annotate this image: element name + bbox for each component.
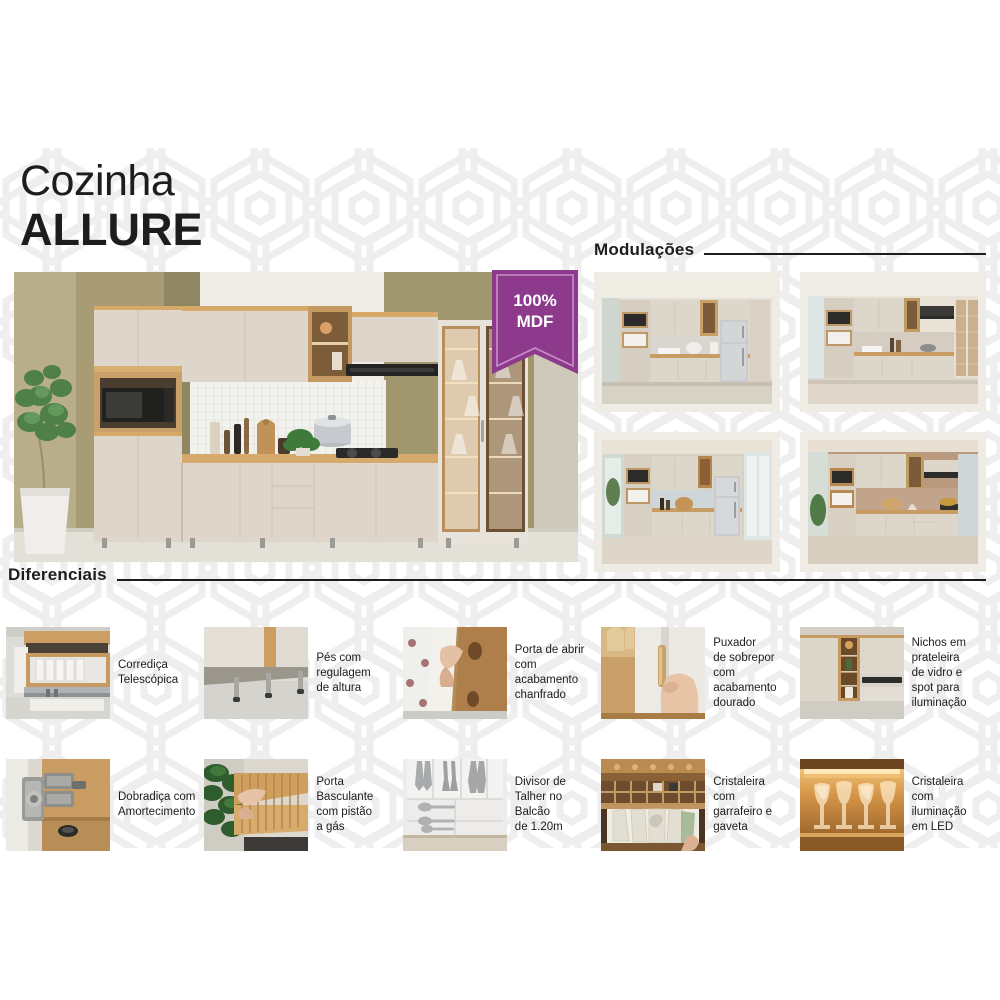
- modulation-2: [800, 272, 986, 412]
- differential-pes-regulagem-altura: Pés com regulagem de altura: [204, 612, 398, 734]
- section-title-modulacoes: Modulações: [594, 240, 694, 260]
- product-sheet: Cozinha ALLURE: [0, 0, 1000, 1000]
- title-line-cozinha: Cozinha: [20, 160, 202, 203]
- page-title: Cozinha ALLURE: [20, 160, 202, 252]
- differential-cristaleira-garrafeiro: Cristaleira com garrafeiro e gaveta: [601, 744, 795, 866]
- modulation-3: [594, 432, 780, 572]
- differential-corredica-telescopica: Corrediça Telescópica: [6, 612, 200, 734]
- dobradica-amortecimento-thumb: [6, 759, 110, 851]
- differential-divisor-talher: Divisor de Talher no Balcão de 1.20m: [403, 744, 597, 866]
- modulation-4: [800, 432, 986, 572]
- differential-label: Porta Basculante com pistão a gás: [316, 775, 373, 835]
- section-title-diferenciais: Diferenciais: [8, 565, 107, 585]
- differential-puxador-sobrepor-dourado: Puxador de sobrepor com acabamento doura…: [601, 612, 795, 734]
- title-line-allure: ALLURE: [20, 207, 202, 252]
- differential-porta-basculante-pistao: Porta Basculante com pistão a gás: [204, 744, 398, 866]
- puxador-sobrepor-dourado-thumb: [601, 627, 705, 719]
- section-header-modulacoes: Modulações: [594, 240, 986, 260]
- mdf-badge: 100% MDF: [492, 270, 578, 380]
- pes-regulagem-altura-thumb: [204, 627, 308, 719]
- modulations-grid: [594, 272, 986, 574]
- differential-porta-abrir-chanfrado: Porta de abrir com acabamento chanfrado: [403, 612, 597, 734]
- differential-label: Nichos em prateleira de vidro e spot par…: [912, 636, 967, 711]
- differential-label: Dobradiça com Amortecimento: [118, 790, 195, 820]
- differential-label: Divisor de Talher no Balcão de 1.20m: [515, 775, 566, 835]
- differential-dobradica-amortecimento: Dobradiça com Amortecimento: [6, 744, 200, 866]
- differential-nichos-vidro-spot: Nichos em prateleira de vidro e spot par…: [800, 612, 994, 734]
- differential-cristaleira-led: Cristaleira com iluminação em LED: [800, 744, 994, 866]
- differential-label: Porta de abrir com acabamento chanfrado: [515, 643, 585, 703]
- corredica-telescopica-thumb: [6, 627, 110, 719]
- nichos-vidro-spot-thumb: [800, 627, 904, 719]
- porta-basculante-pistao-thumb: [204, 759, 308, 851]
- differential-label: Puxador de sobrepor com acabamento doura…: [713, 636, 776, 711]
- differential-label: Cristaleira com garrafeiro e gaveta: [713, 775, 772, 835]
- section-rule-modulacoes: [704, 253, 986, 255]
- section-header-diferenciais: Diferenciais: [8, 565, 986, 585]
- differential-label: Corrediça Telescópica: [118, 658, 178, 688]
- porta-abrir-chanfrado-thumb: [403, 627, 507, 719]
- cristaleira-garrafeiro-thumb: [601, 759, 705, 851]
- differential-label: Cristaleira com iluminação em LED: [912, 775, 967, 835]
- modulation-1: [594, 272, 780, 412]
- cristaleira-led-thumb: [800, 759, 904, 851]
- section-rule-diferenciais: [117, 579, 986, 581]
- divisor-talher-thumb: [403, 759, 507, 851]
- differential-label: Pés com regulagem de altura: [316, 651, 370, 696]
- differentials-grid: Corrediça Telescópica: [6, 612, 994, 866]
